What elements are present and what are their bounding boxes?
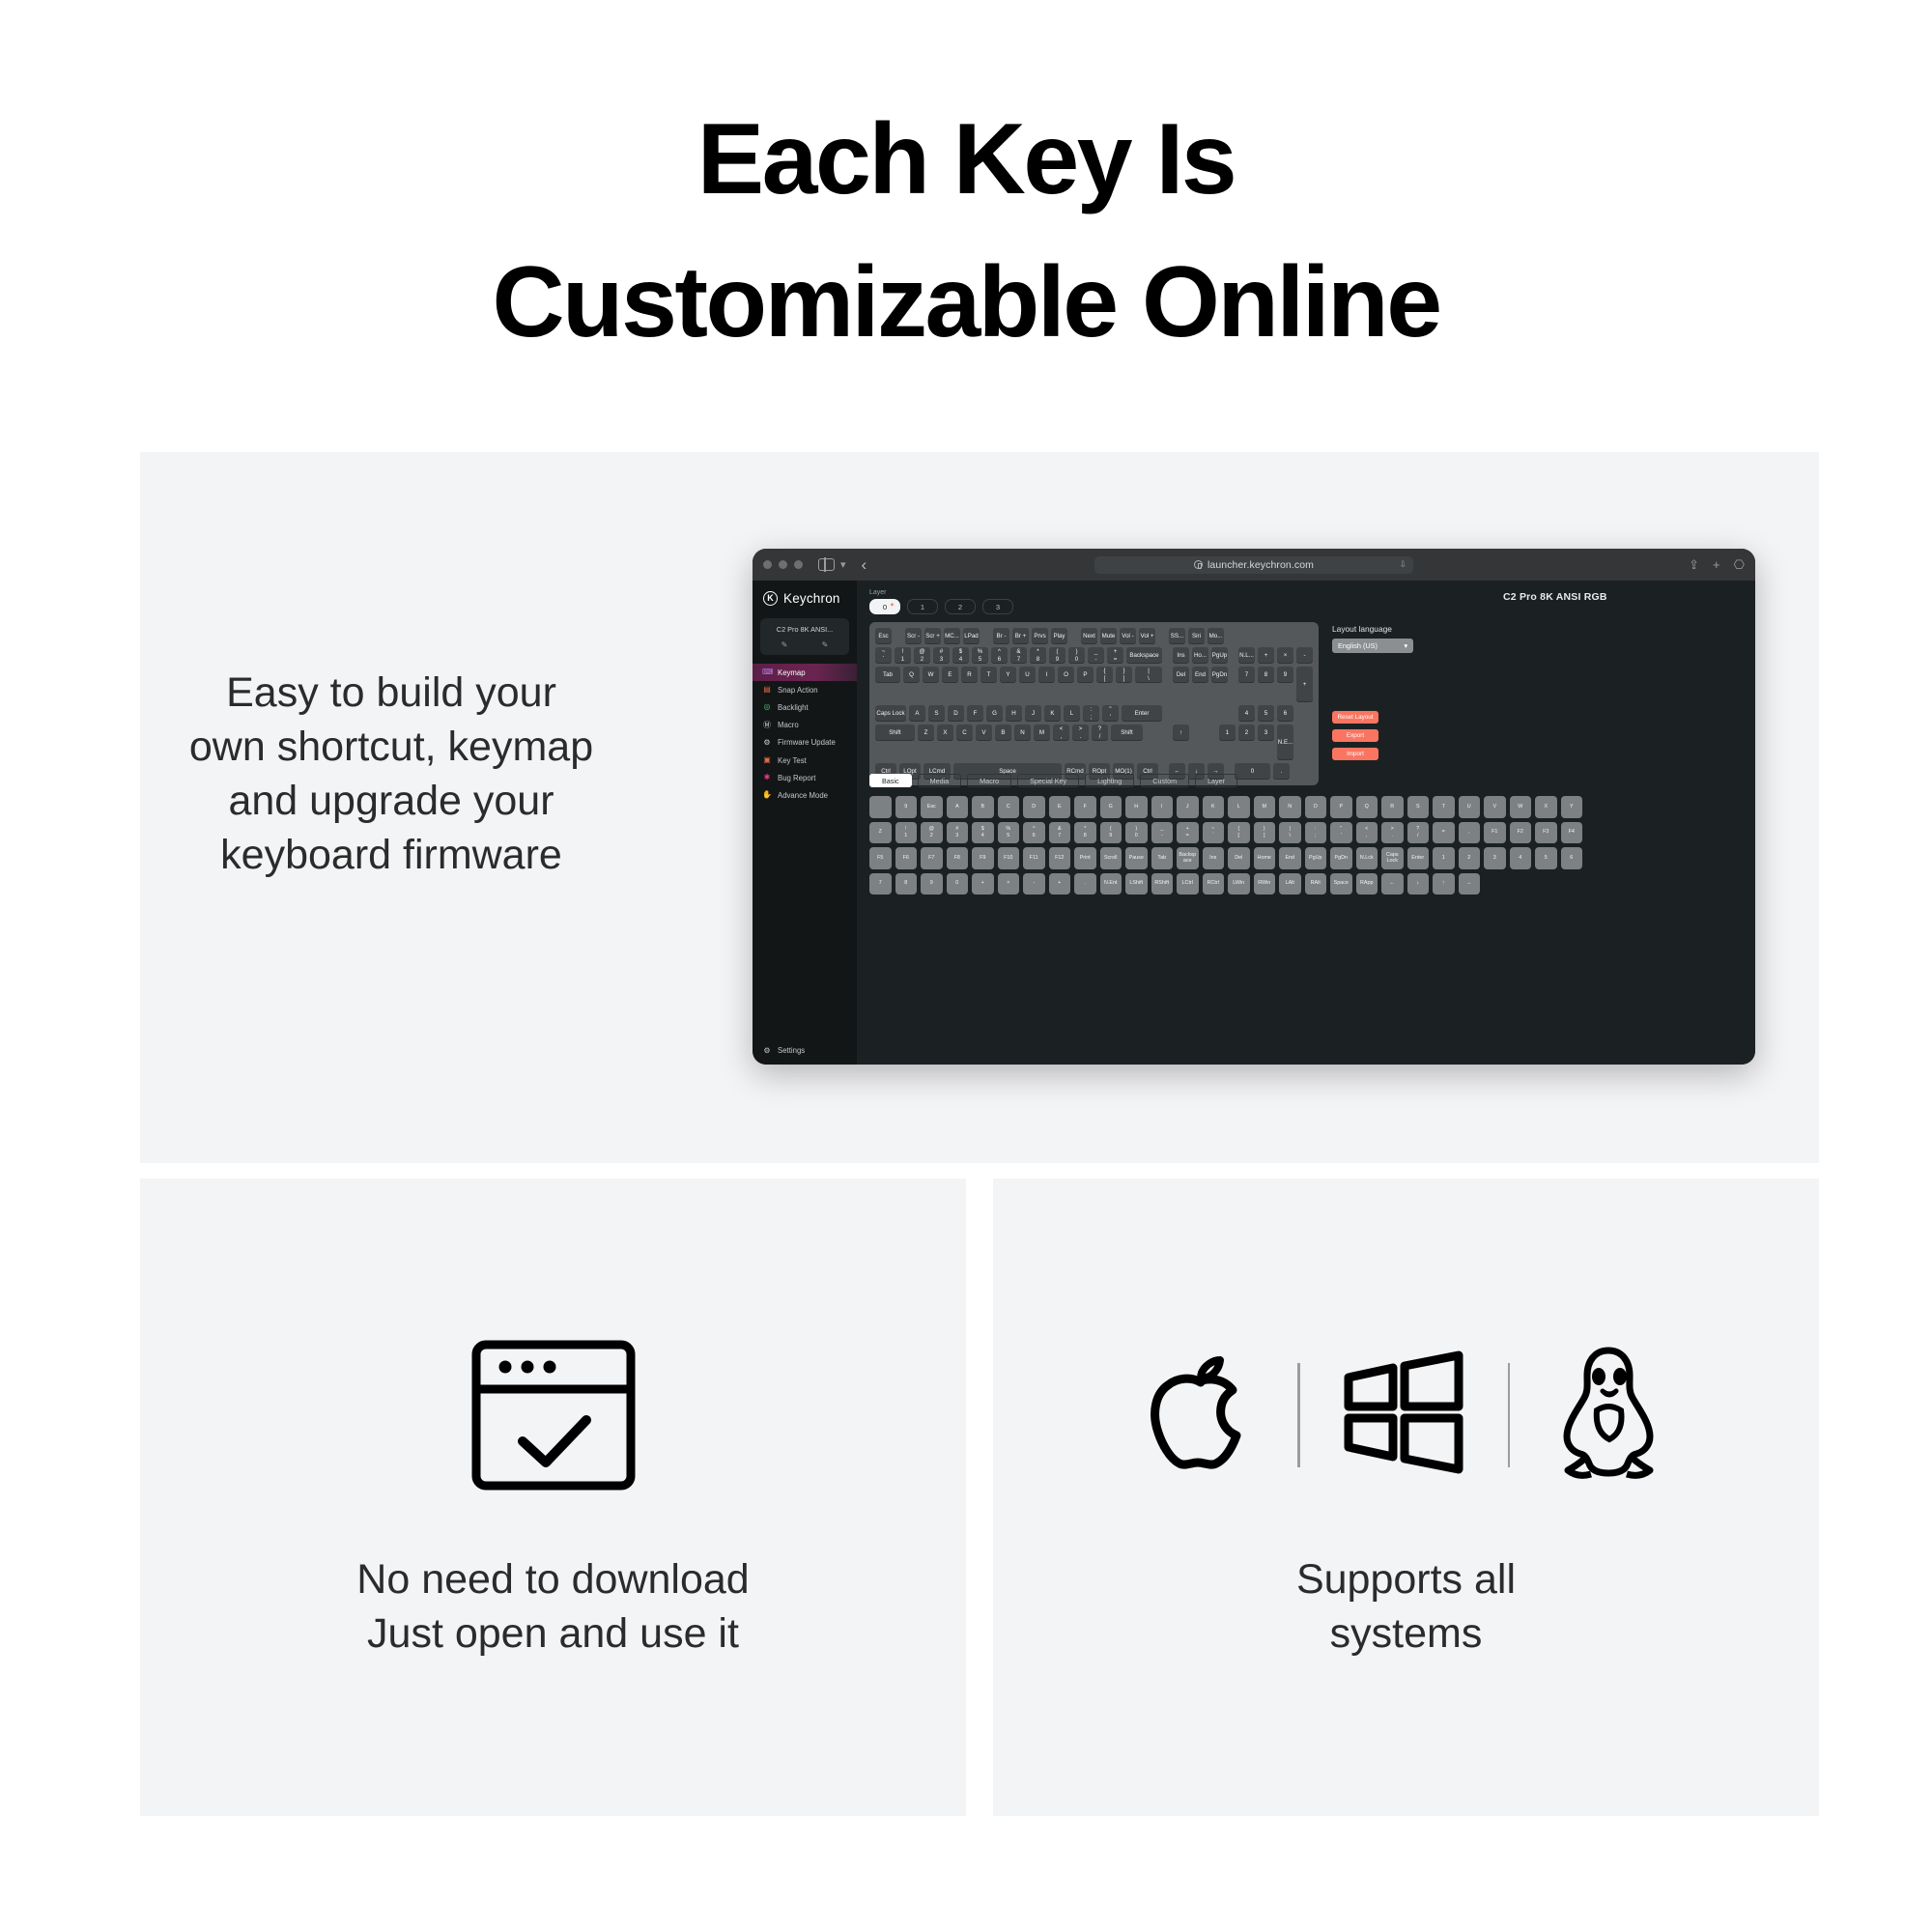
keycap[interactable]: 8	[1258, 667, 1274, 683]
caption-line-2: systems	[1330, 1610, 1483, 1657]
key-picker-key[interactable]: PgDn	[1330, 847, 1352, 869]
keycap[interactable]: ×	[1277, 647, 1293, 664]
key-picker-key[interactable]: F5	[869, 847, 892, 869]
tab-custom[interactable]: Custom	[1140, 774, 1189, 787]
key-picker-sublegend: 9	[1109, 833, 1112, 839]
keycap[interactable]: N.E...	[1277, 724, 1293, 760]
minimize-icon[interactable]	[779, 560, 787, 569]
key-picker-key[interactable]: Del	[1228, 847, 1250, 869]
key-picker-key[interactable]: 8	[895, 873, 918, 895]
key-picker-key[interactable]: Space	[1330, 873, 1352, 895]
keycap[interactable]: ?/	[1092, 724, 1108, 741]
key-picker-key[interactable]: Home	[1254, 847, 1276, 869]
key-picker-key[interactable]: )0	[1125, 822, 1148, 844]
key-picker-key[interactable]: _-	[1151, 822, 1174, 844]
key-picker-key[interactable]: F4	[1561, 822, 1583, 844]
download-icon[interactable]: ⇩	[1399, 559, 1406, 570]
keycap[interactable]: Backspace	[1126, 647, 1162, 664]
keycap[interactable]: Scr +	[924, 628, 941, 644]
keycap-legend: Scr -	[907, 633, 920, 639]
keycap-legend: %	[978, 648, 983, 655]
keycap[interactable]: X	[937, 724, 953, 741]
key-picker-key[interactable]: P	[1330, 796, 1352, 818]
device-card[interactable]: C2 Pro 8K ANSI... ✎ ✎	[760, 618, 849, 655]
keycap[interactable]: PgUp	[1211, 647, 1228, 664]
keycap-legend: "	[1109, 706, 1111, 713]
key-picker-legend: Home	[1258, 855, 1271, 862]
keycap[interactable]: F	[967, 705, 983, 722]
keycap[interactable]: +=	[1107, 647, 1123, 664]
chevron-down-icon[interactable]: ▾	[840, 558, 846, 571]
keycap[interactable]: Br +	[1012, 628, 1029, 644]
layer-button-label: 3	[996, 603, 1000, 611]
keycap[interactable]: L	[1064, 705, 1080, 722]
keycap[interactable]: Ho...	[1192, 647, 1208, 664]
key-picker-key[interactable]	[869, 796, 892, 818]
reset-layout-button[interactable]: Reset Layout	[1332, 711, 1378, 724]
keycap[interactable]: 3	[1258, 724, 1274, 741]
keycap-legend: Ins	[1177, 652, 1184, 659]
key-picker-key[interactable]: RWin	[1254, 873, 1276, 895]
keycap[interactable]: |\	[1135, 667, 1162, 683]
key-picker-key[interactable]: 1	[1433, 847, 1455, 869]
keycap[interactable]: Play	[1051, 628, 1067, 644]
key-picker-key[interactable]: ,	[1459, 822, 1481, 844]
keycap[interactable]: ~`	[875, 647, 892, 664]
key-picker-key[interactable]: →	[1459, 873, 1481, 895]
key-picker-key[interactable]: -	[1023, 873, 1045, 895]
key-picker-key[interactable]: N.Ent	[1100, 873, 1122, 895]
tabs-icon[interactable]: ⎔	[1734, 557, 1745, 573]
keycap-sublegend: ,	[1061, 733, 1063, 740]
keycap[interactable]: Del	[1173, 667, 1189, 683]
keycap[interactable]: )0	[1068, 647, 1085, 664]
keycap-sublegend: 4	[959, 656, 962, 663]
key-picker-key[interactable]: (9	[1100, 822, 1122, 844]
key-picker-sublegend: .	[1392, 833, 1394, 839]
keycap[interactable]: Y	[1000, 667, 1016, 683]
sidebar-item-bug-report[interactable]: ✱Bug Report	[753, 769, 857, 786]
key-picker-key[interactable]: Y	[1561, 796, 1583, 818]
key-picker-grid[interactable]: 9EscABCDEFGHIJKLMNOPQRSTUVWXYZ!1@2#3$4%5…	[869, 796, 1743, 895]
keycap-legend: P	[1083, 671, 1087, 678]
key-picker-key[interactable]: C	[998, 796, 1020, 818]
keycap[interactable]: W	[923, 667, 939, 683]
key-picker-key[interactable]: S	[1407, 796, 1430, 818]
layer-button-2[interactable]: 2	[945, 599, 976, 614]
keycap[interactable]: PgDn	[1211, 667, 1228, 683]
key-picker-key[interactable]: 3	[1484, 847, 1506, 869]
keycap[interactable]: :;	[1083, 705, 1099, 722]
key-picker-key[interactable]: F	[1074, 796, 1096, 818]
key-picker-legend: 4	[1519, 855, 1521, 862]
keycap[interactable]: D	[948, 705, 964, 722]
caption-line-2: Just open and use it	[367, 1610, 739, 1657]
keycap[interactable]: LPad	[963, 628, 980, 644]
keycap[interactable]: !1	[895, 647, 911, 664]
keycap[interactable]: N	[1014, 724, 1031, 741]
edit-icon[interactable]: ✎	[822, 640, 829, 649]
key-picker-key[interactable]: U	[1459, 796, 1481, 818]
keycap[interactable]: Vol -	[1120, 628, 1136, 644]
key-picker-key[interactable]: CapsLock	[1381, 847, 1404, 869]
keycap[interactable]: Tab	[875, 667, 900, 683]
keycap[interactable]: J	[1025, 705, 1041, 722]
key-picker-key[interactable]: RCtrl	[1203, 873, 1225, 895]
app-main: Layer 0✶123 C2 Pro 8K ANSI RGB EscScr -S…	[857, 581, 1755, 1065]
key-picker-key[interactable]: &7	[1049, 822, 1071, 844]
key-picker-key[interactable]: End	[1279, 847, 1301, 869]
key-picker-key[interactable]: :;	[1305, 822, 1327, 844]
key-picker-key[interactable]: 5	[1535, 847, 1557, 869]
key-picker-key[interactable]: .	[1074, 873, 1096, 895]
key-picker-key[interactable]: Q	[1356, 796, 1378, 818]
key-picker-key[interactable]: +=	[1177, 822, 1199, 844]
keycap-legend: MC...	[945, 633, 959, 639]
keycap[interactable]: 1	[1219, 724, 1236, 741]
keycap-legend: X	[943, 729, 947, 736]
key-picker-key[interactable]: Pause	[1125, 847, 1148, 869]
key-picker-key[interactable]: 6	[1561, 847, 1583, 869]
keycap[interactable]: "'	[1102, 705, 1119, 722]
tab-lighting[interactable]: Lighting	[1085, 774, 1134, 787]
keycap[interactable]: *8	[1030, 647, 1046, 664]
key-picker-key[interactable]: <,	[1356, 822, 1378, 844]
key-picker-sublegend: 1	[904, 833, 907, 839]
key-picker-key[interactable]: ↓	[1407, 873, 1430, 895]
keycap-legend: *	[1037, 648, 1038, 655]
key-picker-sublegend: =	[1186, 833, 1189, 839]
key-picker-key[interactable]: O	[1305, 796, 1327, 818]
tab-layer[interactable]: Layer	[1195, 774, 1237, 787]
key-picker-key[interactable]: 0	[947, 873, 969, 895]
keycap[interactable]: Z	[918, 724, 934, 741]
keycap[interactable]: N.L...	[1238, 647, 1255, 664]
keycap-legend: N.E...	[1278, 739, 1293, 746]
key-picker-key[interactable]: F6	[895, 847, 918, 869]
keycap[interactable]: U	[1019, 667, 1036, 683]
keycap[interactable]: C	[956, 724, 973, 741]
keycap[interactable]: V	[976, 724, 992, 741]
key-picker-key[interactable]: Tab	[1151, 847, 1174, 869]
key-picker-key[interactable]: +	[972, 873, 994, 895]
key-picker-key[interactable]: E	[1049, 796, 1071, 818]
keycap-legend: Y	[1006, 671, 1009, 678]
key-picker-legend: F3	[1543, 829, 1548, 836]
keycap-legend: Siri	[1192, 633, 1201, 639]
key-picker-legend: $	[981, 826, 984, 833]
sidebar-item-settings[interactable]: ⚙ Settings	[753, 1046, 857, 1055]
key-picker-key[interactable]: F10	[998, 847, 1020, 869]
key-picker-key[interactable]: 7	[869, 873, 892, 895]
sidebar-item-advance-mode[interactable]: ✋Advance Mode	[753, 786, 857, 804]
keycap-legend: O	[1064, 671, 1068, 678]
key-picker-key[interactable]: Print	[1074, 847, 1096, 869]
keycap[interactable]: Caps Lock	[875, 705, 906, 722]
key-picker-key[interactable]: +	[1049, 873, 1071, 895]
keycap-legend: +	[1303, 681, 1307, 688]
key-picker-key[interactable]: F12	[1049, 847, 1071, 869]
edit-icon[interactable]: ✎	[781, 640, 788, 649]
keycap[interactable]: 5	[1258, 705, 1274, 722]
key-picker-key[interactable]: Ins	[1203, 847, 1225, 869]
sidebar-item-label: Keymap	[778, 668, 806, 677]
key-picker-key[interactable]: F11	[1023, 847, 1045, 869]
key-picker-key[interactable]: K	[1203, 796, 1225, 818]
key-picker-key[interactable]: LAlt	[1279, 873, 1301, 895]
key-picker-key[interactable]: |\	[1279, 822, 1301, 844]
keycap[interactable]: <,	[1053, 724, 1069, 741]
key-picker-key[interactable]: @2	[921, 822, 943, 844]
keycap[interactable]: Esc	[875, 628, 892, 644]
keycap[interactable]: R	[961, 667, 978, 683]
layer-button-1[interactable]: 1	[907, 599, 938, 614]
keycap-legend: ?	[1098, 725, 1101, 732]
key-picker-legend: !	[905, 826, 907, 833]
sidebar-toggle-icon[interactable]	[818, 558, 835, 571]
key-picker-key[interactable]: Backspace	[1177, 847, 1199, 869]
builder-description: Easy to build your own shortcut, keymap …	[184, 667, 599, 883]
keycap[interactable]: Br -	[993, 628, 1009, 644]
layer-button-0[interactable]: 0✶	[869, 599, 900, 614]
key-picker-key[interactable]: 2	[1459, 847, 1481, 869]
close-icon[interactable]	[763, 560, 772, 569]
keycap[interactable]: Siri	[1188, 628, 1205, 644]
key-picker-legend: +	[1058, 880, 1061, 887]
key-picker-key[interactable]: =	[1433, 822, 1455, 844]
import-button[interactable]: Import	[1332, 748, 1378, 760]
key-picker-key[interactable]: I	[1151, 796, 1174, 818]
key-picker-key[interactable]: J	[1177, 796, 1199, 818]
keycap[interactable]: M	[1034, 724, 1050, 741]
keycap[interactable]: }]	[1116, 667, 1132, 683]
key-category-tabs[interactable]: BasicMediaMacroSpecial KeyLightingCustom…	[869, 774, 1743, 787]
key-picker-key[interactable]: LShift	[1125, 873, 1148, 895]
keycap[interactable]: {[	[1096, 667, 1113, 683]
page-title: Each Key Is Customizable Online	[0, 89, 1932, 374]
key-picker-key[interactable]: F9	[972, 847, 994, 869]
layout-language-select[interactable]: English (US) ▾	[1332, 639, 1413, 653]
keycap[interactable]: B	[995, 724, 1011, 741]
key-picker-key[interactable]: !1	[895, 822, 918, 844]
key-picker-key[interactable]: F8	[947, 847, 969, 869]
keyboard-row: ~`!1@2#3$4%5^6&7*8(9)0_-+=BackspaceInsHo…	[875, 647, 1313, 664]
key-picker-legend: +	[1186, 826, 1189, 833]
sidebar-item-keymap[interactable]: ⌨Keymap	[753, 664, 857, 681]
key-picker-key[interactable]: *8	[1074, 822, 1096, 844]
keycap[interactable]: S	[928, 705, 945, 722]
key-picker-key[interactable]: N	[1279, 796, 1301, 818]
share-icon[interactable]: ⇪	[1689, 557, 1699, 573]
key-picker-key[interactable]: D	[1023, 796, 1045, 818]
key-picker-key[interactable]: T	[1433, 796, 1455, 818]
key-picker-key[interactable]: >.	[1381, 822, 1404, 844]
key-picker-key[interactable]: G	[1100, 796, 1122, 818]
keycap[interactable]: MC...	[944, 628, 960, 644]
sidebar-item-label: Firmware Update	[778, 738, 836, 747]
key-picker-key[interactable]: PgUp	[1305, 847, 1327, 869]
keycap[interactable]: H	[1006, 705, 1022, 722]
key-picker-key[interactable]: %5	[998, 822, 1020, 844]
keycap[interactable]: -	[1296, 647, 1313, 664]
sidebar-item-firmware-update[interactable]: ⚙Firmware Update	[753, 734, 857, 752]
key-picker-key[interactable]: ×	[998, 873, 1020, 895]
keycap[interactable]: 2	[1238, 724, 1255, 741]
keycap[interactable]: G	[986, 705, 1003, 722]
keycap[interactable]: _-	[1088, 647, 1104, 664]
keycap[interactable]: ↑	[1173, 724, 1189, 741]
keycap-legend: ~	[882, 648, 886, 655]
keycap[interactable]: Ins	[1173, 647, 1189, 664]
key-picker-key[interactable]: B	[972, 796, 994, 818]
key-picker-legend: &	[1058, 826, 1062, 833]
sidebar-item-backlight[interactable]: ◎Backlight	[753, 698, 857, 716]
key-picker-legend: RWin	[1258, 880, 1270, 887]
plus-icon[interactable]: +	[1713, 557, 1720, 572]
keyboard-spacer	[1192, 724, 1208, 741]
keycap[interactable]: 9	[1277, 667, 1293, 683]
address-bar[interactable]: launcher.keychron.com ⇩	[1094, 556, 1413, 574]
key-picker-legend: 9	[930, 880, 933, 887]
key-picker-key[interactable]: A	[947, 796, 969, 818]
tab-media[interactable]: Media	[918, 774, 962, 787]
keycap-legend: PgUp	[1212, 652, 1227, 659]
export-button[interactable]: Export	[1332, 729, 1378, 742]
key-picker-key[interactable]: Enter	[1407, 847, 1430, 869]
key-picker-key[interactable]: {[	[1228, 822, 1250, 844]
key-picker-key[interactable]: ^6	[1023, 822, 1045, 844]
keycap[interactable]: Next	[1081, 628, 1097, 644]
sidebar-item-snap-action[interactable]: ▤Snap Action	[753, 681, 857, 698]
key-picker-key[interactable]: F7	[921, 847, 943, 869]
keyboard-visual[interactable]: EscScr -Scr +MC...LPadBr -Br +PrvsPlayNe…	[869, 622, 1319, 785]
keycap[interactable]: +	[1258, 647, 1274, 664]
keycap-legend: R	[967, 671, 971, 678]
keycap[interactable]: %5	[972, 647, 988, 664]
key-picker-key[interactable]: F1	[1484, 822, 1506, 844]
keycap[interactable]: 6	[1277, 705, 1293, 722]
key-picker-key[interactable]: V	[1484, 796, 1506, 818]
traffic-lights[interactable]	[763, 560, 803, 569]
keycap[interactable]: O	[1058, 667, 1074, 683]
keycap[interactable]: Mo...	[1207, 628, 1224, 644]
key-picker-key[interactable]: Esc	[921, 796, 943, 818]
key-picker-legend: Space	[1334, 880, 1349, 887]
key-picker-legend: F8	[954, 855, 960, 862]
key-picker-key[interactable]: RShift	[1151, 873, 1174, 895]
keycap-sublegend: -	[1094, 656, 1096, 663]
key-picker-key[interactable]: }]	[1254, 822, 1276, 844]
key-picker-key[interactable]: RAlt	[1305, 873, 1327, 895]
keycap[interactable]: I	[1038, 667, 1055, 683]
tab-basic[interactable]: Basic	[869, 774, 912, 787]
keycap[interactable]: Shift	[1111, 724, 1143, 741]
key-picker-key[interactable]: RApp	[1356, 873, 1378, 895]
keycap[interactable]: Vol +	[1139, 628, 1155, 644]
keycap[interactable]: #3	[933, 647, 950, 664]
key-picker-key[interactable]: M	[1254, 796, 1276, 818]
keycap[interactable]: Prvs	[1032, 628, 1048, 644]
key-picker-key[interactable]: 9	[921, 873, 943, 895]
os-icon-row	[993, 1323, 1819, 1507]
key-picker-key[interactable]: F3	[1535, 822, 1557, 844]
keycap[interactable]: SS...	[1169, 628, 1185, 644]
tab-macro[interactable]: Macro	[967, 774, 1011, 787]
keycap[interactable]: Scr -	[905, 628, 922, 644]
sidebar-item-label: Snap Action	[778, 686, 818, 695]
keycap[interactable]: Mute	[1100, 628, 1117, 644]
keycap[interactable]: Shift	[875, 724, 915, 741]
key-picker-key[interactable]: X	[1535, 796, 1557, 818]
key-picker-key[interactable]: 4	[1510, 847, 1532, 869]
keycap[interactable]: @2	[914, 647, 930, 664]
key-picker-key[interactable]: Scroll	[1100, 847, 1122, 869]
key-picker-key[interactable]: ↑	[1433, 873, 1455, 895]
key-picker-key[interactable]: L	[1228, 796, 1250, 818]
sidebar-item-macro[interactable]: ⓂMacro	[753, 717, 857, 734]
keycap[interactable]: 7	[1238, 667, 1255, 683]
key-picker-key[interactable]: W	[1510, 796, 1532, 818]
key-picker-legend: C	[1007, 804, 1010, 810]
keycap-legend: T	[987, 671, 991, 678]
key-picker-key[interactable]: F2	[1510, 822, 1532, 844]
key-picker-key[interactable]: #3	[947, 822, 969, 844]
layer-modified-dot-icon: ✶	[890, 602, 894, 606]
key-picker-legend: V	[1492, 804, 1496, 810]
back-arrow-icon[interactable]: ‹	[862, 555, 867, 575]
key-picker-key[interactable]: ←	[1381, 873, 1404, 895]
keycap[interactable]: End	[1192, 667, 1208, 683]
key-picker-legend: →	[1466, 880, 1471, 887]
keycap[interactable]: Q	[903, 667, 920, 683]
keycap[interactable]: E	[942, 667, 958, 683]
key-picker-legend: S	[1416, 804, 1420, 810]
keycap[interactable]: (9	[1049, 647, 1065, 664]
tab-special-key[interactable]: Special Key	[1017, 774, 1079, 787]
key-picker-key[interactable]: LCtrl	[1177, 873, 1199, 895]
keycap[interactable]: +	[1296, 667, 1313, 702]
key-picker-key[interactable]: H	[1125, 796, 1148, 818]
no-download-caption: No need to download Just open and use it	[140, 1553, 966, 1662]
key-picker-key[interactable]: N.Lck	[1356, 847, 1378, 869]
key-picker-key[interactable]: ?/	[1407, 822, 1430, 844]
keycap[interactable]: A	[909, 705, 925, 722]
key-picker-key[interactable]: 9	[895, 796, 918, 818]
keycap[interactable]: &7	[1010, 647, 1027, 664]
key-picker-key[interactable]: LWin	[1228, 873, 1250, 895]
browser-chrome-right: ⇪ + ⎔	[1689, 557, 1745, 573]
keycap[interactable]: T	[980, 667, 997, 683]
key-picker-key[interactable]: ~`	[1203, 822, 1225, 844]
keycap[interactable]: P	[1077, 667, 1094, 683]
key-picker-key[interactable]: R	[1381, 796, 1404, 818]
keycap[interactable]: 4	[1238, 705, 1255, 722]
maximize-icon[interactable]	[794, 560, 803, 569]
key-picker-legend: RShift	[1154, 880, 1169, 887]
keycap-legend: K	[1050, 710, 1054, 717]
layer-button-3[interactable]: 3	[982, 599, 1013, 614]
keycap[interactable]: ^6	[991, 647, 1008, 664]
key-picker-key[interactable]: $4	[972, 822, 994, 844]
keycap[interactable]: Enter	[1122, 705, 1162, 722]
keycap[interactable]: $4	[952, 647, 969, 664]
sidebar-item-key-test[interactable]: ▣Key Test	[753, 752, 857, 769]
key-picker-key[interactable]: Z	[869, 822, 892, 844]
keycap[interactable]: >.	[1072, 724, 1089, 741]
key-picker-legend: 0	[955, 880, 958, 887]
keycap[interactable]: K	[1044, 705, 1061, 722]
key-picker-key[interactable]: "'	[1330, 822, 1352, 844]
